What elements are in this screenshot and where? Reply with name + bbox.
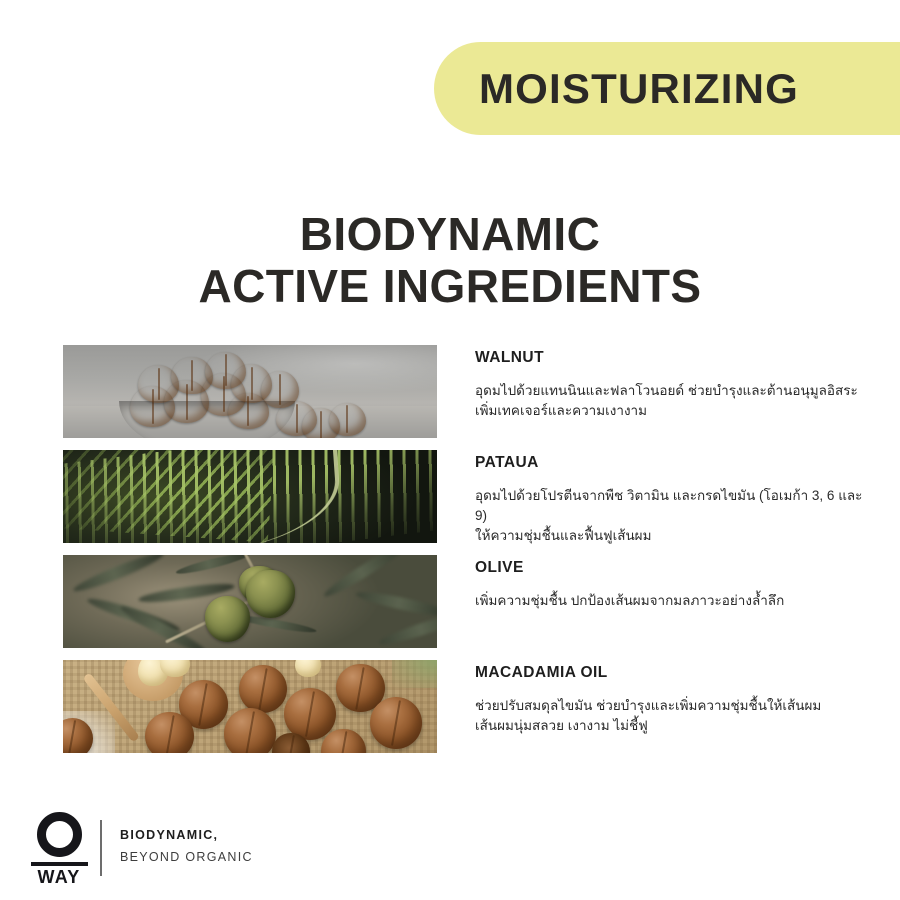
footer: WAY BIODYNAMIC, BEYOND ORGANIC [30,812,870,882]
footer-tagline: BIODYNAMIC, BEYOND ORGANIC [120,824,253,868]
ingredient-description: อุดมไปด้วยโปรตีนจากพืช วิตามิน และกรดไขม… [475,486,875,546]
ingredient-description: ช่วยปรับสมดุลไขมัน ช่วยบำรุงและเพิ่มความ… [475,696,875,736]
ingredient-name: MACADAMIA OIL [475,664,875,682]
page-title-line-1: BIODYNAMIC [0,208,900,260]
logo-underline [31,862,88,866]
ingredient-row-macadamia: MACADAMIA OIL ช่วยปรับสมดุลไขมัน ช่วยบำร… [0,660,900,765]
ingredient-row-olive: OLIVE เพิ่มความชุ่มชื้น ปกป้องเส้นผมจากม… [0,555,900,660]
ingredient-name: WALNUT [475,349,875,367]
olive-image [63,555,437,648]
tagline-line-1: BIODYNAMIC, [120,824,253,846]
ingredient-description: เพิ่มความชุ่มชื้น ปกป้องเส้นผมจากมลภาวะอ… [475,591,875,611]
page-title: BIODYNAMIC ACTIVE INGREDIENTS [0,208,900,312]
ingredient-list: WALNUT อุดมไปด้วยแทนนินและฟลาโวนอยด์ ช่ว… [0,345,900,765]
page-title-line-2: ACTIVE INGREDIENTS [0,260,900,312]
banner-label: MOISTURIZING [434,65,799,113]
ingredient-name: PATAUA [475,454,875,472]
tagline-line-2: BEYOND ORGANIC [120,846,253,868]
pataua-image [63,450,437,543]
ingredient-row-pataua: PATAUA อุดมไปด้วยโปรตีนจากพืช วิตามิน แล… [0,450,900,555]
ingredient-row-walnut: WALNUT อุดมไปด้วยแทนนินและฟลาโวนอยด์ ช่ว… [0,345,900,450]
ingredient-description: อุดมไปด้วยแทนนินและฟลาโวนอยด์ ช่วยบำรุงแ… [475,381,875,421]
footer-divider [100,820,102,876]
walnut-image [63,345,437,438]
logo-wordmark: WAY [30,868,88,886]
oway-logo: WAY [30,812,88,886]
ingredient-name: OLIVE [475,559,875,577]
macadamia-image [63,660,437,753]
moisturizing-banner: MOISTURIZING [434,42,900,135]
logo-o-ring-icon [37,812,82,857]
